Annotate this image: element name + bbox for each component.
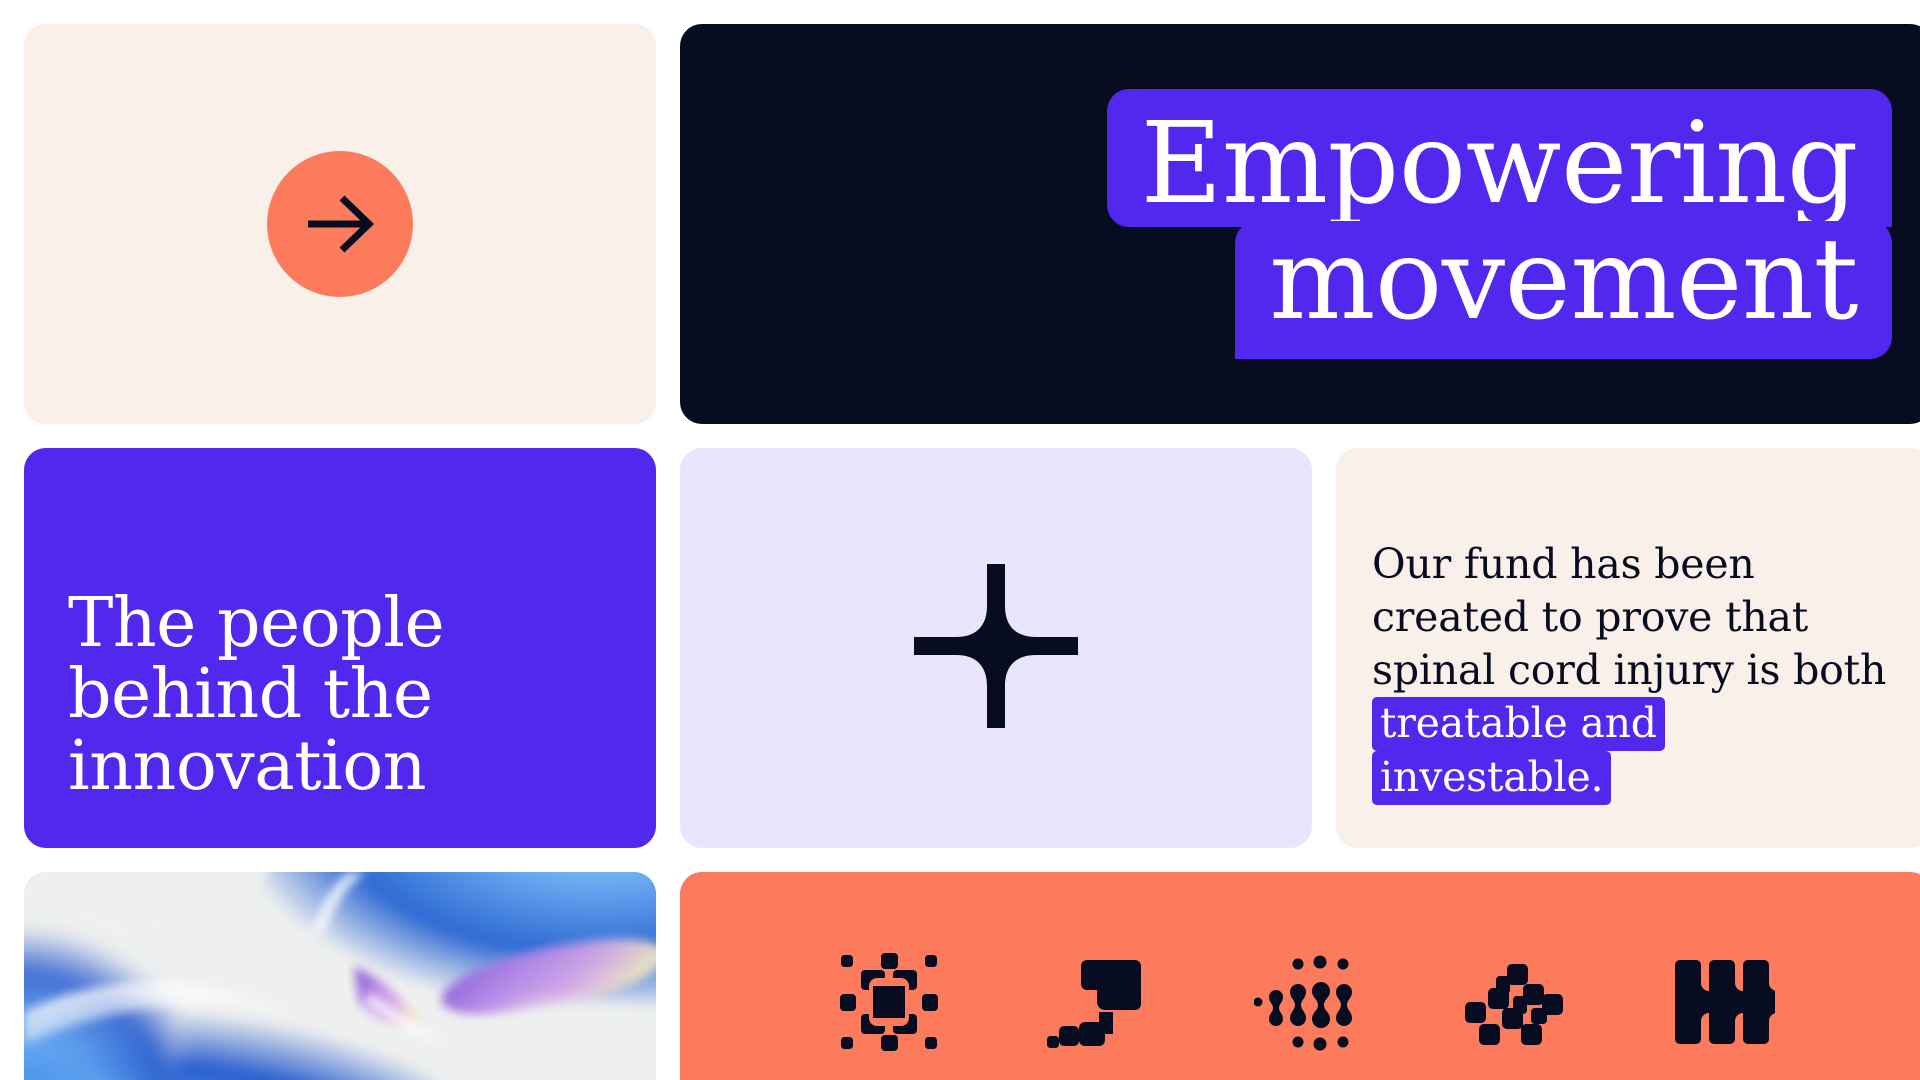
sparkle-plus-icon xyxy=(914,564,1078,733)
people-heading: The people behind the innovation xyxy=(68,588,444,802)
abstract-fluid-image xyxy=(24,872,656,1080)
bento-board: Empowering movement The people behind th… xyxy=(0,0,1920,1080)
people-line-3: innovation xyxy=(68,727,426,806)
plus-card[interactable] xyxy=(680,448,1312,848)
dotted-wave-icon[interactable] xyxy=(1246,947,1366,1057)
pixel-burst-icon[interactable] xyxy=(829,947,949,1057)
copy-card: Our fund has been created to prove that … xyxy=(1336,448,1920,848)
people-line-1: The people xyxy=(68,584,444,663)
people-card: The people behind the innovation xyxy=(24,448,656,848)
people-line-2: behind the xyxy=(68,655,433,734)
arrow-right-icon xyxy=(300,184,380,264)
copy-highlight: treatable and investable. xyxy=(1372,697,1665,804)
hero-typography: Empowering movement xyxy=(1107,89,1920,359)
arrow-card[interactable] xyxy=(24,24,656,424)
bracket-triple-icon[interactable] xyxy=(1663,947,1783,1057)
hero-line-1: Empowering xyxy=(1107,89,1892,227)
pixel-staircase-icon[interactable] xyxy=(1037,947,1157,1057)
copy-lead: Our fund has been created to prove that … xyxy=(1372,540,1886,695)
icon-strip-card xyxy=(680,872,1920,1080)
pixel-diagonal-icon[interactable] xyxy=(1455,947,1575,1057)
arrow-button[interactable] xyxy=(267,151,413,297)
copy-paragraph: Our fund has been created to prove that … xyxy=(1372,538,1896,804)
fluid-image-card xyxy=(24,872,656,1080)
hero-card: Empowering movement xyxy=(680,24,1920,424)
hero-line-2: movement xyxy=(1235,221,1892,359)
